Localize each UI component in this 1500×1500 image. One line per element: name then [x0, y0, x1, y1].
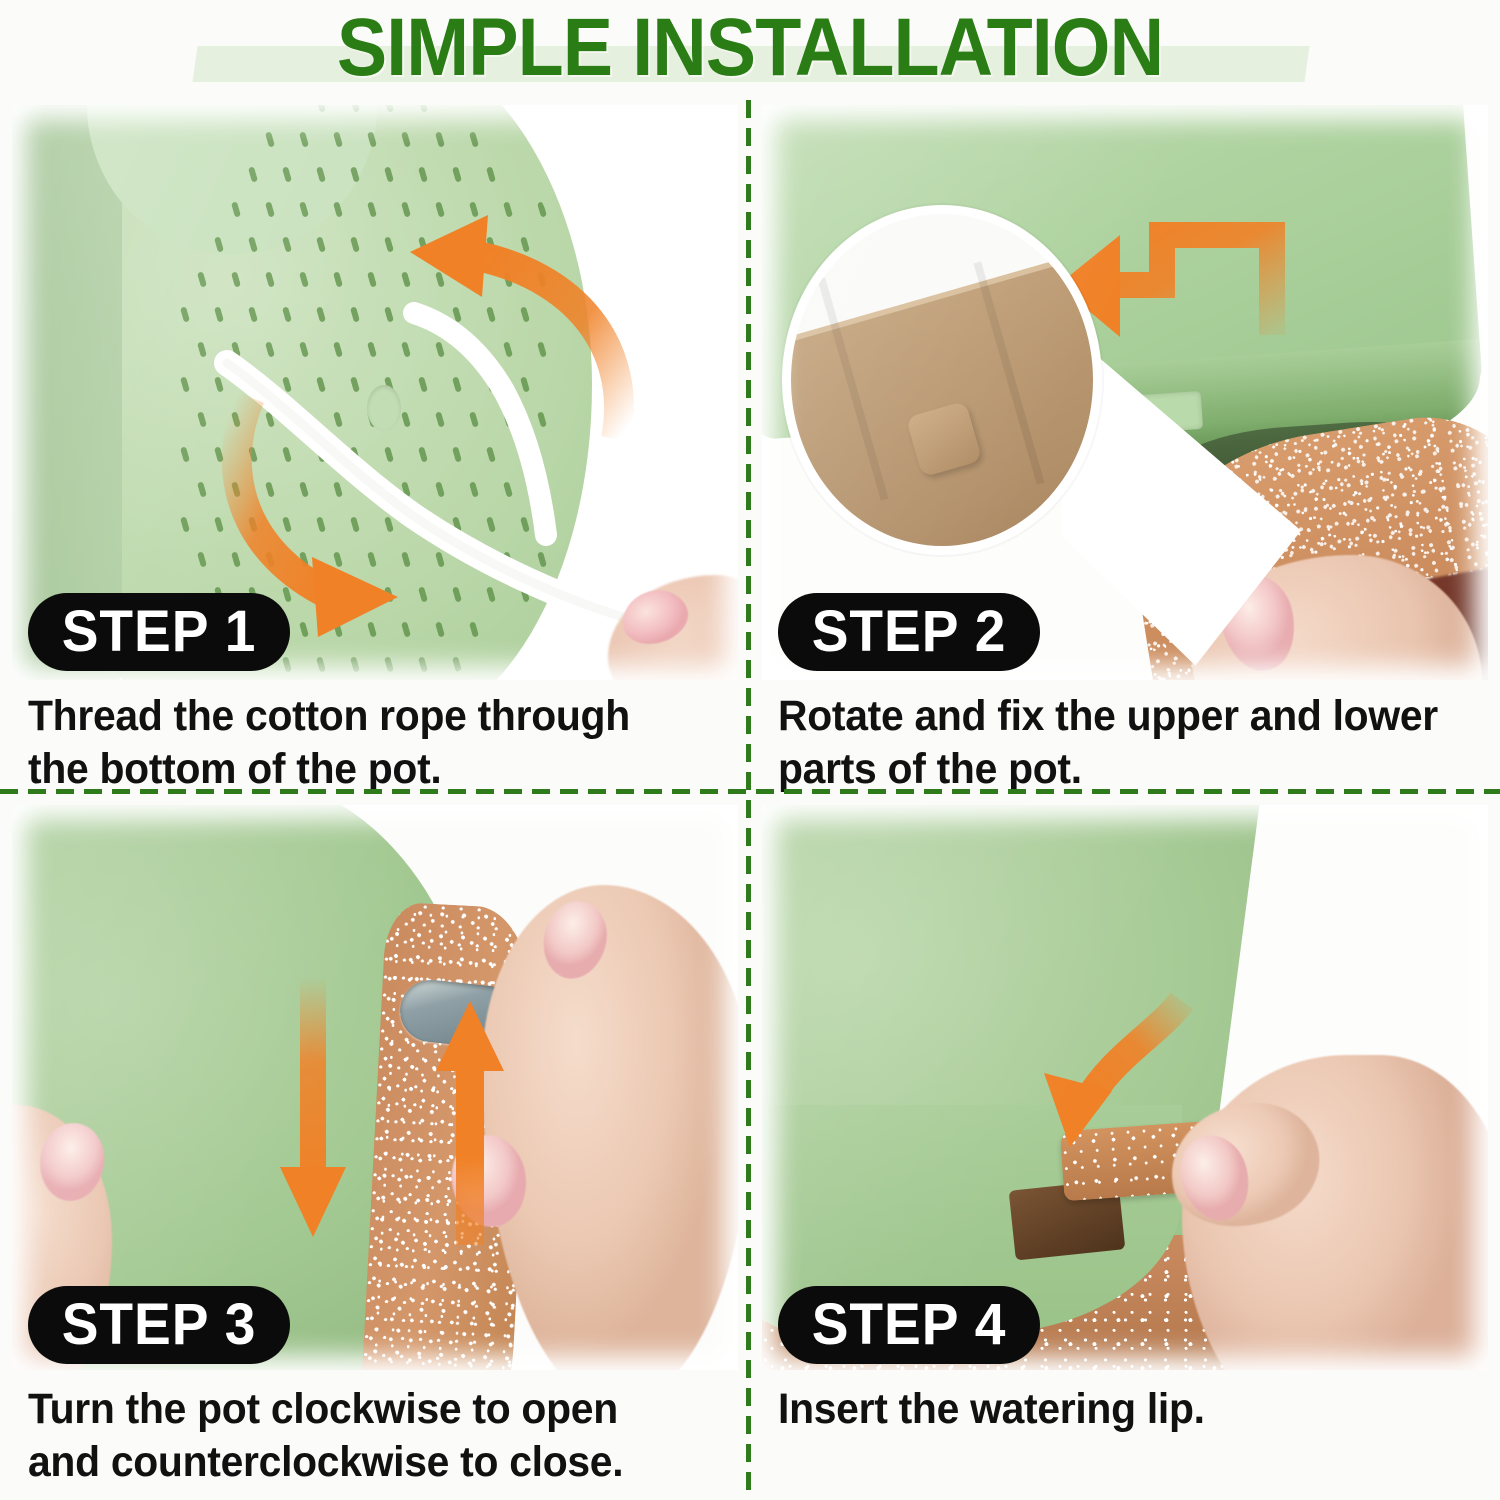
step-2-badge: STEP 2	[778, 593, 1040, 671]
page-header: SIMPLE INSTALLATION	[0, 0, 1500, 100]
step-3-caption: Turn the pot clockwise to open and count…	[28, 1383, 693, 1489]
step-2-badge-label: STEP 2	[785, 593, 1034, 671]
step-card-3: STEP 3 Turn the pot clockwise to open an…	[0, 800, 750, 1500]
step-1-badge-label: STEP 1	[35, 593, 284, 671]
vertical-dashed-divider	[746, 100, 751, 1500]
pot-center-nub	[367, 385, 401, 431]
step-4-caption: Insert the watering lip.	[778, 1383, 1443, 1436]
step-3-badge: STEP 3	[28, 1286, 290, 1364]
step-3-badge-label: STEP 3	[35, 1286, 284, 1364]
step-4-badge: STEP 4	[778, 1286, 1040, 1364]
step-1-badge: STEP 1	[28, 593, 290, 671]
right-hand	[482, 885, 738, 1370]
step-2-caption: Rotate and fix the upper and lower parts…	[778, 690, 1443, 796]
step-4-badge-label: STEP 4	[785, 1286, 1034, 1364]
step-card-4: STEP 4 Insert the watering lip.	[750, 800, 1500, 1500]
page-title: SIMPLE INSTALLATION	[60, 0, 1440, 96]
locking-tab-closeup-inset	[782, 205, 1102, 555]
step-card-1: STEP 1 Thread the cotton rope through th…	[0, 100, 750, 800]
step-1-caption: Thread the cotton rope through the botto…	[28, 690, 693, 796]
step-card-2: STEP 2 Rotate and fix the upper and lowe…	[750, 100, 1500, 800]
